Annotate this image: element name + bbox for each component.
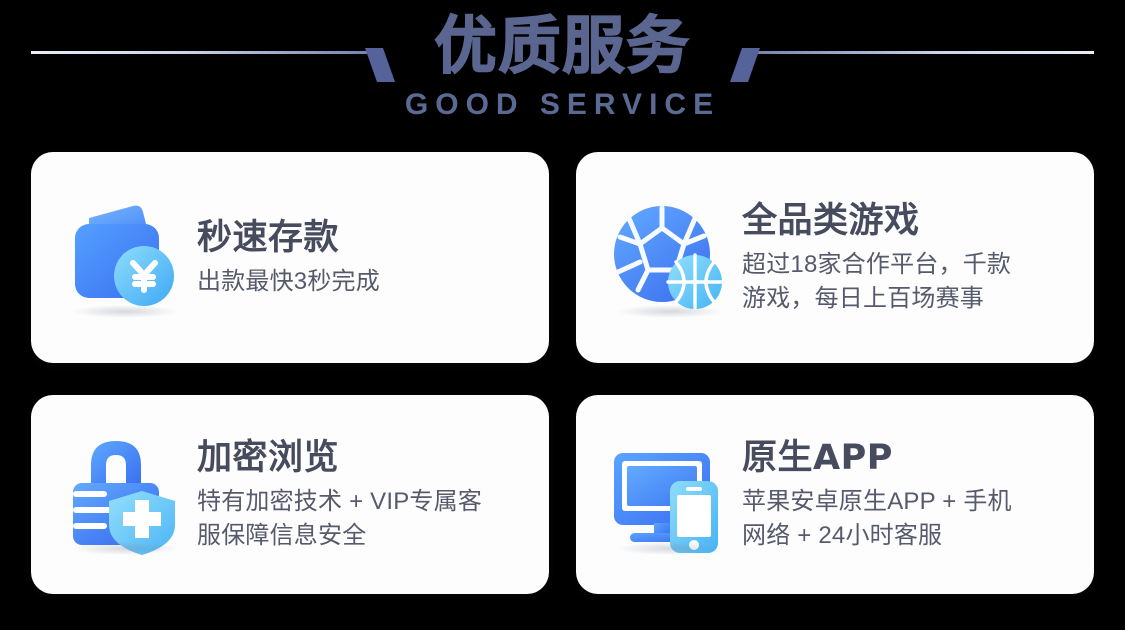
feature-card-grid: 秒速存款 出款最快3秒完成 — [31, 152, 1094, 594]
card-text-block: 全品类游戏 超过18家合作平台，千款 游戏，每日上百场赛事 — [736, 200, 1011, 316]
icon-shadow — [73, 305, 177, 318]
page-header: 优质服务 GOOD SERVICE — [0, 0, 1125, 145]
card-subtitle: 特有加密技术 + VIP专属客 服保障信息安全 — [197, 485, 482, 553]
card-title: 原生APP — [742, 437, 1012, 479]
card-subtitle-line: 游戏，每日上百场赛事 — [742, 282, 1011, 316]
card-text-block: 原生APP 苹果安卓原生APP + 手机 网络 + 24小时客服 — [736, 437, 1012, 553]
card-text-block: 加密浏览 特有加密技术 + VIP专属客 服保障信息安全 — [191, 437, 482, 553]
page-subtitle: GOOD SERVICE — [0, 88, 1125, 122]
card-title: 秒速存款 — [197, 217, 380, 259]
card-subtitle-line: 出款最快3秒完成 — [197, 265, 380, 299]
card-title: 加密浏览 — [197, 437, 482, 479]
icon-shadow — [618, 305, 722, 318]
card-subtitle-line: 苹果安卓原生APP + 手机 — [742, 485, 1012, 519]
icon-shadow — [618, 542, 722, 555]
card-text-block: 秒速存款 出款最快3秒完成 — [191, 217, 380, 299]
page-root: 优质服务 GOOD SERVICE — [0, 0, 1125, 630]
card-subtitle: 超过18家合作平台，千款 游戏，每日上百场赛事 — [742, 248, 1011, 316]
card-subtitle-line: 网络 + 24小时客服 — [742, 519, 1012, 553]
card-title: 全品类游戏 — [742, 200, 1011, 242]
soccer-basketball-icon — [604, 192, 736, 324]
lock-shield-icon — [59, 429, 191, 561]
icon-shadow — [73, 542, 177, 555]
card-subtitle-line: 超过18家合作平台，千款 — [742, 248, 1011, 282]
card-subtitle: 出款最快3秒完成 — [197, 265, 380, 299]
header-text-block: 优质服务 GOOD SERVICE — [0, 6, 1125, 122]
feature-card-instant-deposit[interactable]: 秒速存款 出款最快3秒完成 — [31, 152, 549, 363]
monitor-phone-icon — [604, 429, 736, 561]
wallet-icon — [59, 192, 191, 324]
card-subtitle: 苹果安卓原生APP + 手机 网络 + 24小时客服 — [742, 485, 1012, 553]
card-subtitle-line: 特有加密技术 + VIP专属客 — [197, 485, 482, 519]
page-title: 优质服务 — [0, 6, 1125, 86]
feature-card-encrypted-browsing[interactable]: 加密浏览 特有加密技术 + VIP专属客 服保障信息安全 — [31, 395, 549, 594]
card-subtitle-line: 服保障信息安全 — [197, 519, 482, 553]
feature-card-all-games[interactable]: 全品类游戏 超过18家合作平台，千款 游戏，每日上百场赛事 — [576, 152, 1094, 363]
feature-card-native-app[interactable]: 原生APP 苹果安卓原生APP + 手机 网络 + 24小时客服 — [576, 395, 1094, 594]
